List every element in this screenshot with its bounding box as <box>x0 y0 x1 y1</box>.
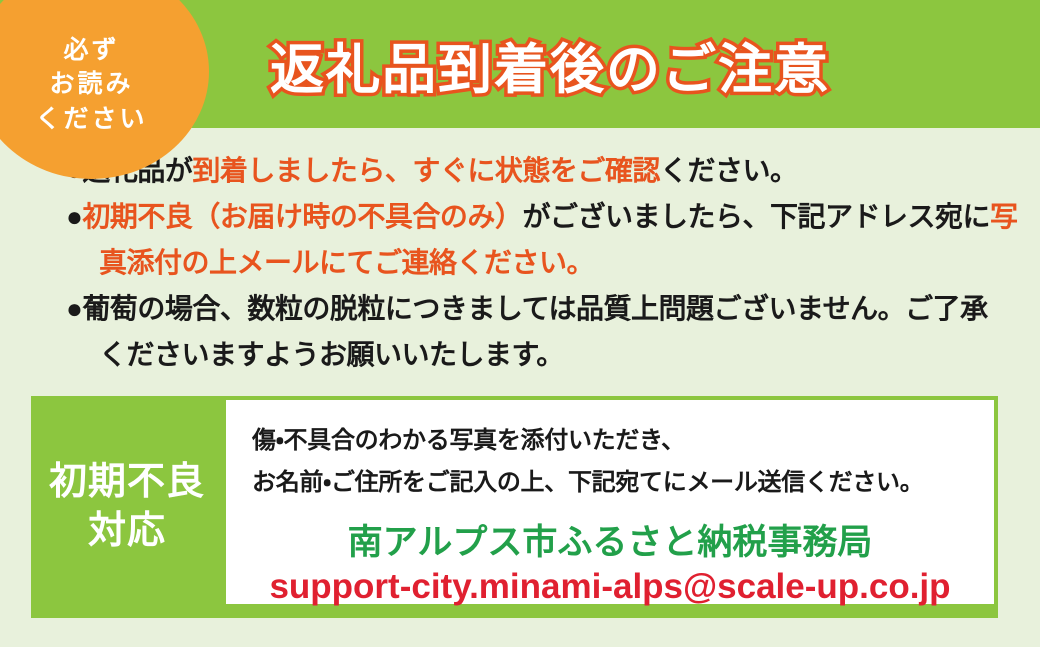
notice-bullet-list: ●返礼品が到着しましたら、すぐに状態をご確認ください。●初期不良（お届け時の不具… <box>66 148 996 378</box>
badge-line-1: 必ず <box>63 33 119 68</box>
notice-line-1-segment-3: ください。 <box>660 155 798 186</box>
notice-line-2-segment-4: 写 <box>990 201 1018 232</box>
badge-line-3: ください <box>35 102 147 137</box>
contact-email[interactable]: support-city.minami-alps@scale-up.co.jp <box>252 567 994 607</box>
notice-line-5-segment-1: くださいますようお願いいたします。 <box>99 339 564 370</box>
defect-response-label-line-1: 初期不良 <box>49 458 205 507</box>
notice-line-2-segment-1: ● <box>66 201 82 232</box>
page-title: 返礼品到着後のご注意 <box>270 25 830 104</box>
notice-line-2: ●初期不良（お届け時の不具合のみ）がございましたら、下記アドレス宛に写 <box>66 194 996 240</box>
instruction-line-1: 傷・不具合のわかる写真を添付いただき、 <box>252 420 994 462</box>
notice-line-3: 真添付の上メールにてご連絡ください。 <box>66 240 996 286</box>
notice-line-4: ●葡萄の場合、数粒の脱粒につきましては品質上問題ございません。ご了承 <box>66 286 996 332</box>
defect-response-label: 初期不良 対応 <box>31 396 223 618</box>
notice-line-1-segment-2: 到着しましたら、すぐに状態をご確認 <box>192 155 660 186</box>
instruction-line-2: お名前・ご住所をご記入の上、下記宛てにメール送信ください。 <box>252 462 994 504</box>
notice-line-2-segment-3: がございましたら、下記アドレス宛に <box>522 201 990 232</box>
badge-line-2: お読み <box>49 67 133 102</box>
contact-white-card: 傷・不具合のわかる写真を添付いただき、 お名前・ご住所をご記入の上、下記宛てにメ… <box>222 396 998 608</box>
must-read-badge-text: 必ず お読み ください <box>0 0 209 179</box>
notice-line-2-segment-2: 初期不良（お届け時の不具合のみ） <box>82 201 522 232</box>
defect-response-label-line-2: 対応 <box>88 507 166 556</box>
notice-line-4-segment-1: ●葡萄の場合、数粒の脱粒につきましては品質上問題ございません。ご了承 <box>66 293 988 324</box>
notice-line-5: くださいますようお願いいたします。 <box>66 332 996 378</box>
organization-name: 南アルプス市ふるさと納税事務局 <box>252 514 994 565</box>
notice-line-3-segment-1: 真添付の上メールにてご連絡ください。 <box>99 247 594 278</box>
notice-poster: 返礼品到着後のご注意 必ず お読み ください ●返礼品が到着しましたら、すぐに状… <box>0 0 1040 647</box>
